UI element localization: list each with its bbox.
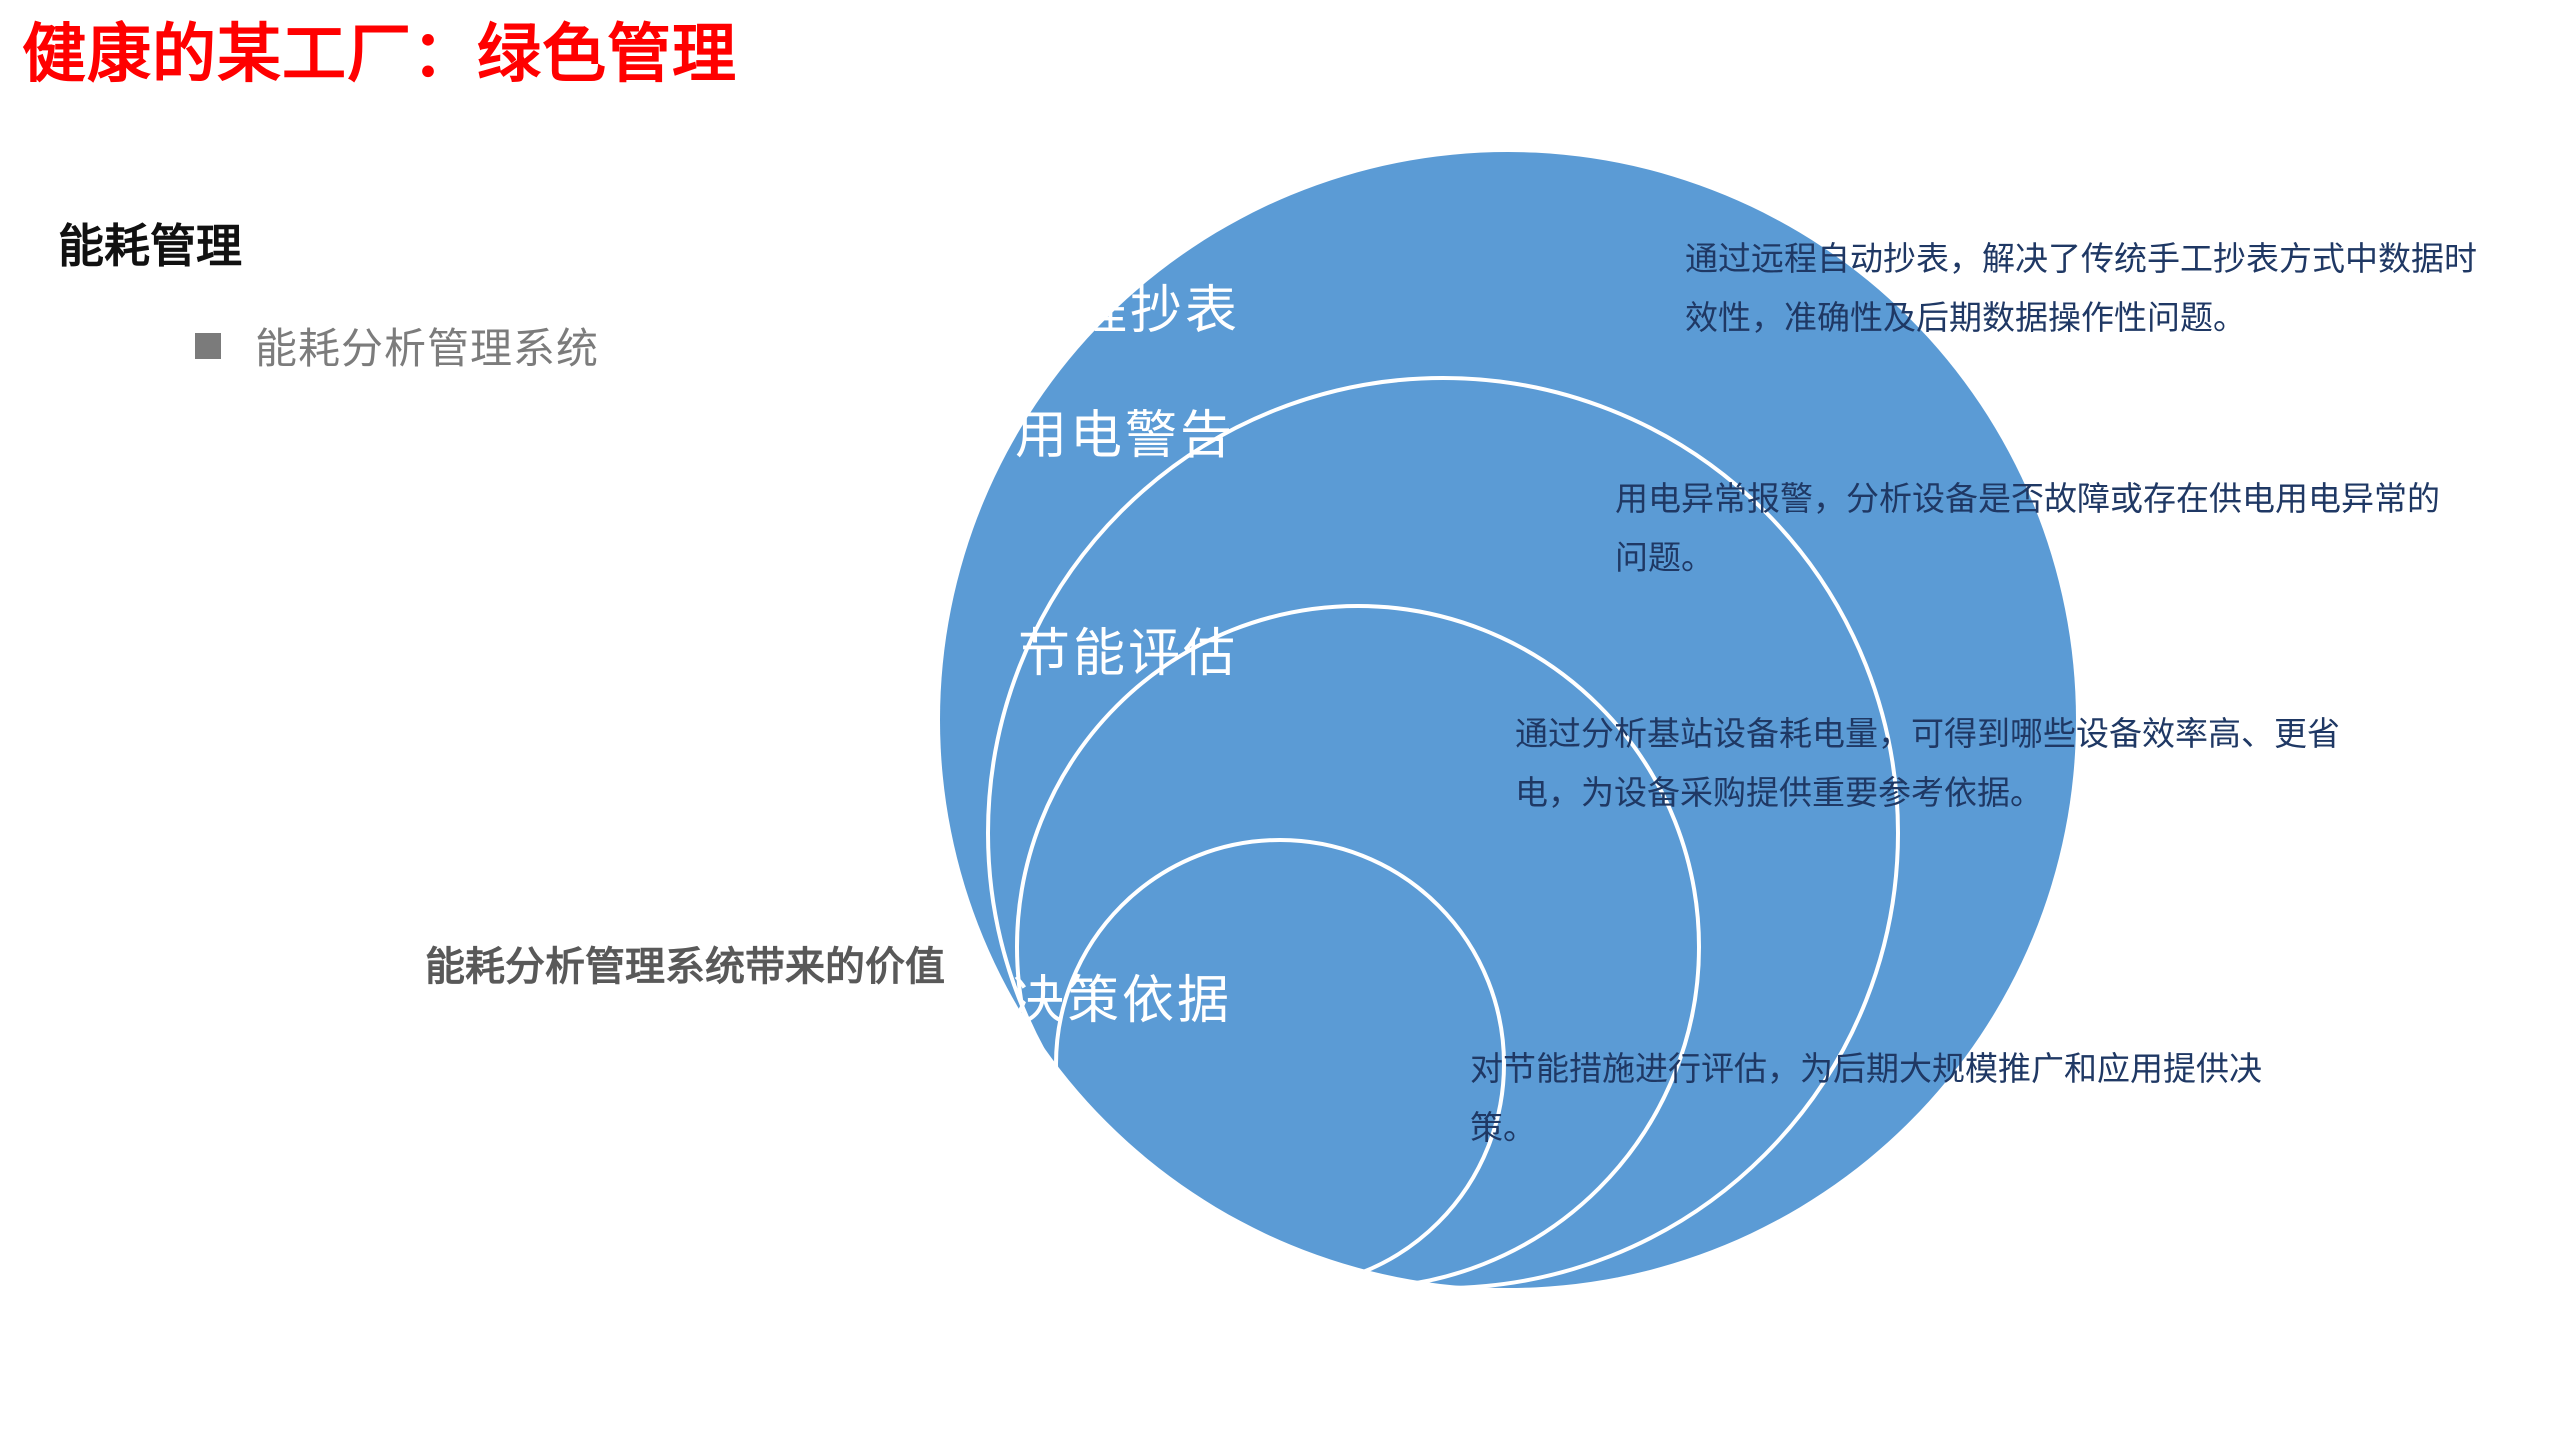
ring-description-1: 通过远程自动抄表，解决了传统手工抄表方式中数据时效性，准确性及后期数据操作性问题… — [1685, 230, 2485, 347]
ring-description-4: 对节能措施进行评估，为后期大规模推广和应用提供决策。 — [1470, 1040, 2310, 1157]
section-heading: 能耗管理 — [58, 210, 242, 276]
ring-label-2: 用电警告 — [1015, 410, 1235, 462]
page-title: 健康的某工厂：绿色管理 — [22, 18, 737, 92]
ring-label-3: 节能评估 — [1018, 628, 1238, 680]
bullet-item-label: 能耗分析管理系统 — [255, 315, 599, 376]
value-caption: 能耗分析管理系统带来的价值 — [400, 935, 970, 1000]
slide-canvas: 健康的某工厂：绿色管理 能耗管理 能耗分析管理系统 能耗分析管理系统带来的价值 … — [0, 0, 2561, 1440]
ring-description-2: 用电异常报警，分析设备是否故障或存在供电用电异常的问题。 — [1615, 470, 2460, 587]
bullet-list-item: 能耗分析管理系统 — [195, 315, 599, 376]
ring-label-1: 远程抄表 — [1020, 285, 1240, 337]
square-bullet-icon — [195, 333, 221, 359]
ring-description-3: 通过分析基站设备耗电量，可得到哪些设备效率高、更省电，为设备采购提供重要参考依据… — [1515, 705, 2395, 822]
ring-label-4: 决策依据 — [1012, 975, 1232, 1027]
